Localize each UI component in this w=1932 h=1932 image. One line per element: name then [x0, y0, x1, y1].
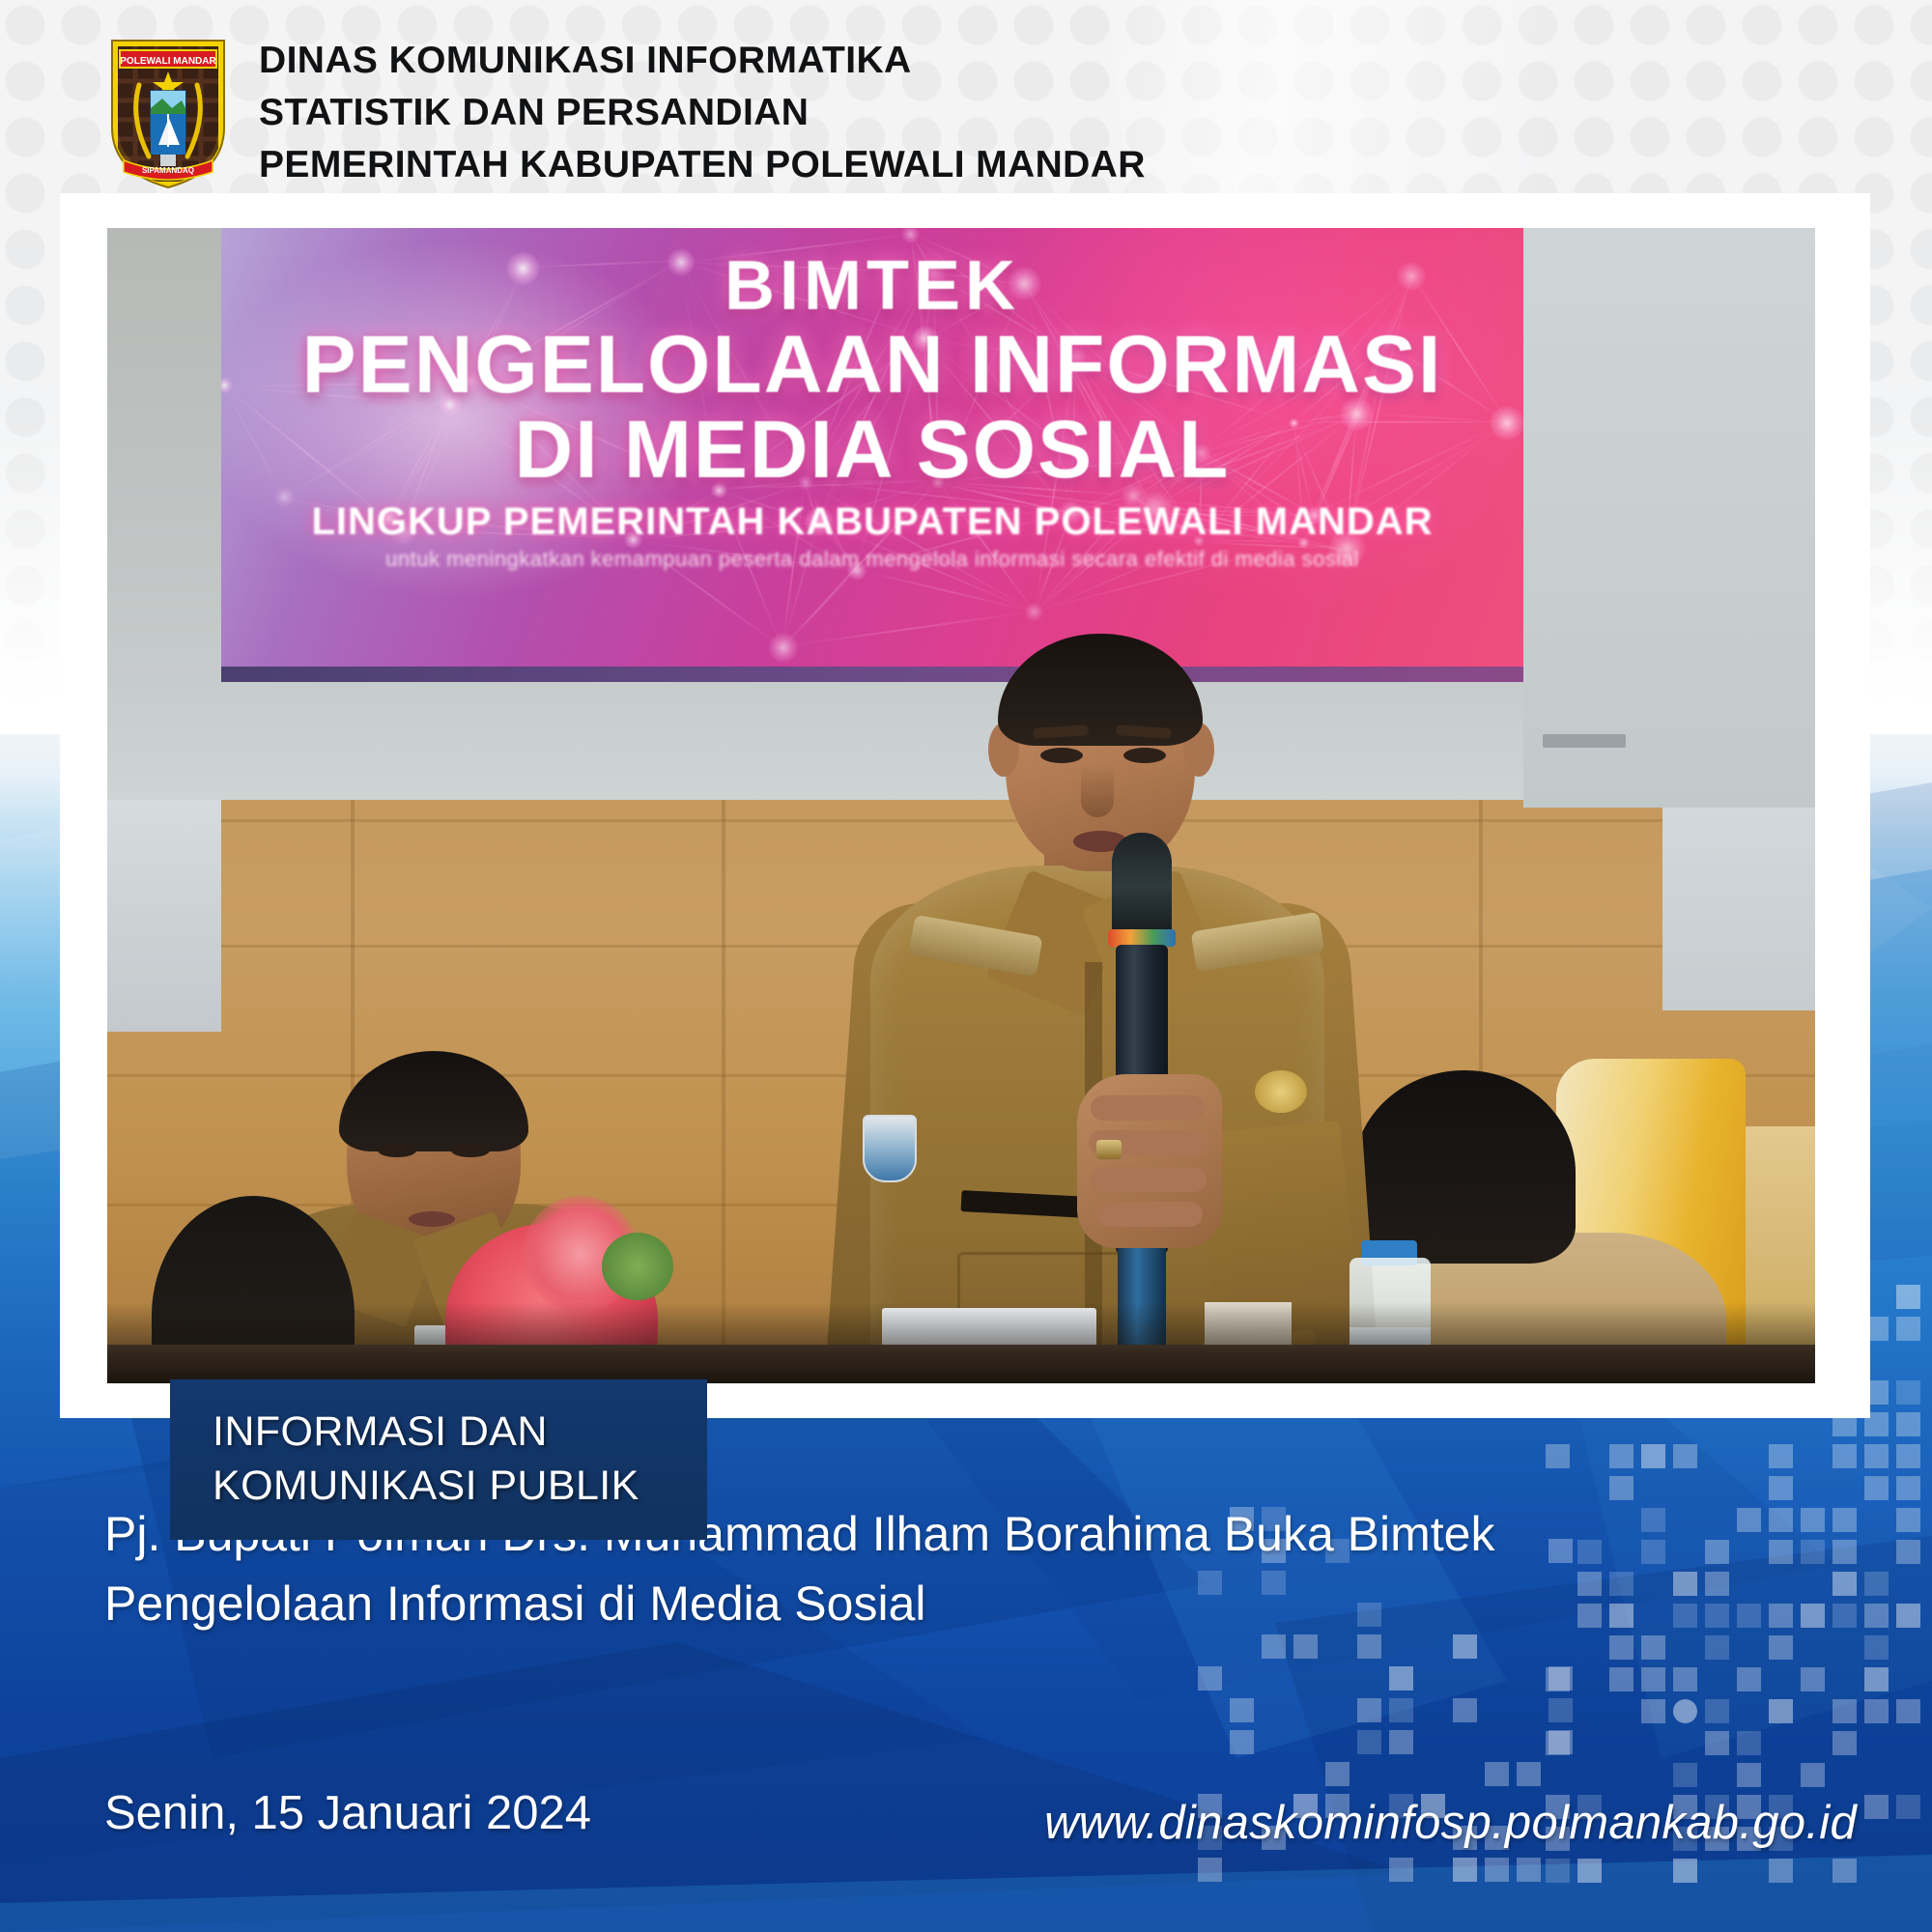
projector-screen: BIMTEK PENGELOLAAN INFORMASI DI MEDIA SO…	[221, 228, 1523, 682]
website-url[interactable]: www.dinaskominfosp.polmankab.go.id	[1044, 1795, 1857, 1851]
speaker-eye-right	[1123, 748, 1166, 763]
pixel-block	[1673, 1859, 1697, 1883]
speaker-ring	[1096, 1140, 1122, 1159]
pixel-block	[1896, 1540, 1920, 1564]
org-line-1: DINAS KOMUNIKASI INFORMATIKA	[259, 35, 1146, 87]
pixel-block	[1864, 1476, 1889, 1500]
pixel-block	[1641, 1667, 1665, 1691]
event-photo: BIMTEK PENGELOLAAN INFORMASI DI MEDIA SO…	[107, 228, 1815, 1383]
pixel-block	[1609, 1444, 1634, 1468]
pixel-block	[1453, 1858, 1477, 1882]
pixel-block	[1833, 1508, 1857, 1532]
pixel-block	[1546, 1444, 1570, 1468]
poster-canvas: POLEWALI MANDAR SIPAMANDAQ	[0, 0, 1932, 1932]
attendee-left-eye-left	[378, 1144, 416, 1157]
pixel-block	[1230, 1698, 1254, 1722]
pixel-block	[1896, 1476, 1920, 1500]
speaker-finger	[1091, 1095, 1205, 1121]
pixel-block	[1198, 1666, 1222, 1690]
speaker-eye-left	[1040, 748, 1083, 763]
pixel-block	[1485, 1858, 1509, 1882]
pixel-block	[1609, 1604, 1634, 1628]
pixel-block	[1673, 1572, 1697, 1596]
pixel-block	[1609, 1635, 1634, 1660]
pixel-block	[1548, 1666, 1573, 1690]
pixel-block	[1864, 1604, 1889, 1628]
pixel-block	[1864, 1795, 1889, 1819]
pixel-block	[1864, 1667, 1889, 1691]
polewali-mandar-emblem-icon: POLEWALI MANDAR SIPAMANDAQ	[106, 35, 230, 189]
pixel-block	[1801, 1667, 1825, 1691]
pixel-block	[1325, 1762, 1350, 1786]
pixel-block	[1641, 1699, 1665, 1723]
header-bar: POLEWALI MANDAR SIPAMANDAQ	[0, 0, 1932, 205]
pixel-block	[1230, 1730, 1254, 1754]
slide-line-1: BIMTEK	[221, 249, 1523, 323]
pixel-block	[1737, 1508, 1761, 1532]
pixel-block	[1769, 1859, 1793, 1883]
pixel-block	[1801, 1763, 1825, 1787]
pixel-block	[1864, 1572, 1889, 1596]
speaker-rank-insignia	[1255, 1070, 1307, 1113]
pixel-block	[1389, 1730, 1413, 1754]
org-line-2: STATISTIK DAN PERSANDIAN	[259, 87, 1146, 139]
svg-text:SIPAMANDAQ: SIPAMANDAQ	[142, 166, 194, 175]
pixel-block	[1548, 1698, 1573, 1722]
pixel-block	[1896, 1380, 1920, 1405]
pixel-block	[1673, 1667, 1697, 1691]
slide-line-4: LINGKUP PEMERINTAH KABUPATEN POLEWALI MA…	[221, 500, 1523, 543]
pixel-block	[1896, 1317, 1920, 1341]
pixel-block	[1769, 1444, 1793, 1468]
pixel-block	[1673, 1604, 1697, 1628]
pixel-block	[1198, 1858, 1222, 1882]
pixel-block	[1641, 1540, 1665, 1564]
pixel-block	[1896, 1444, 1920, 1468]
pixel-block	[1833, 1731, 1857, 1755]
slide-line-2: PENGELOLAAN INFORMASI	[221, 323, 1523, 406]
pixel-block	[1769, 1476, 1793, 1500]
post-date: Senin, 15 Januari 2024	[104, 1785, 591, 1841]
pixel-block	[1517, 1762, 1541, 1786]
category-badge: INFORMASI DAN KOMUNIKASI PUBLIK	[170, 1379, 707, 1540]
slide-line-5: untuk meningkatkan kemampuan peserta dal…	[221, 547, 1523, 572]
pixel-block	[1673, 1763, 1697, 1787]
pixel-block	[1609, 1667, 1634, 1691]
pixel-block	[1896, 1795, 1920, 1819]
pixel-block	[1896, 1508, 1920, 1532]
attendee-left-eye-right	[451, 1144, 490, 1157]
category-badge-line-1: INFORMASI DAN	[213, 1405, 707, 1459]
wood-seam-vertical	[722, 800, 725, 1383]
pixel-block	[1833, 1572, 1857, 1596]
slide-line-3: DI MEDIA SOSIAL	[221, 406, 1523, 493]
pixel-block	[1609, 1476, 1634, 1500]
pixel-block	[1896, 1285, 1920, 1309]
pixel-block	[1737, 1667, 1761, 1691]
speaker-finger	[1091, 1167, 1207, 1192]
organization-name: DINAS KOMUNIKASI INFORMATIKA STATISTIK D…	[259, 35, 1146, 191]
pixel-block	[1833, 1859, 1857, 1883]
screen-slide-text: BIMTEK PENGELOLAAN INFORMASI DI MEDIA SO…	[221, 228, 1523, 682]
pixel-block	[1548, 1730, 1573, 1754]
photo-whiteboard	[1523, 228, 1815, 808]
pixel-block	[1357, 1730, 1381, 1754]
pixel-block	[1833, 1444, 1857, 1468]
pixel-block	[1609, 1572, 1634, 1596]
pixel-block	[1737, 1604, 1761, 1628]
pixel-block	[1801, 1540, 1825, 1564]
wood-seam	[107, 819, 1815, 822]
speaker-finger	[1096, 1202, 1203, 1227]
pixel-block	[1864, 1699, 1889, 1723]
org-line-3: PEMERINTAH KABUPATEN POLEWALI MANDAR	[259, 139, 1146, 191]
pixel-block	[1864, 1635, 1889, 1660]
pixel-block	[1769, 1635, 1793, 1660]
pixel-block	[1641, 1508, 1665, 1532]
speaker-nose	[1081, 765, 1114, 817]
photo-frame: BIMTEK PENGELOLAAN INFORMASI DI MEDIA SO…	[60, 193, 1870, 1418]
pixel-block	[1737, 1763, 1761, 1787]
pixel-block	[1769, 1540, 1793, 1564]
category-badge-line-2: KOMUNIKASI PUBLIK	[213, 1459, 707, 1513]
pixel-block	[1641, 1444, 1665, 1468]
pixel-block	[1705, 1604, 1729, 1628]
speaker-shoulder-badge	[863, 1115, 917, 1182]
pixel-block	[1389, 1698, 1413, 1722]
pixel-block	[1389, 1666, 1413, 1690]
pixel-block	[1769, 1604, 1793, 1628]
screen-bottom-edge	[221, 667, 1523, 682]
pixel-block	[1769, 1699, 1793, 1723]
photo-wall-left	[107, 800, 221, 1032]
attendee-left-mouth	[409, 1211, 455, 1227]
pixel-block	[1705, 1540, 1729, 1564]
microphone-head	[1112, 833, 1172, 939]
table-surface	[107, 1345, 1815, 1383]
pixel-block	[1737, 1731, 1761, 1755]
pixel-block	[1705, 1731, 1729, 1755]
pixel-block	[1641, 1635, 1665, 1660]
pixel-block	[1517, 1858, 1541, 1882]
pixel-block	[1769, 1508, 1793, 1532]
attendee-right-head	[1353, 1070, 1576, 1264]
pixel-block	[1673, 1444, 1697, 1468]
pixel-block	[1705, 1572, 1729, 1596]
pixel-block	[1389, 1858, 1413, 1882]
pixel-block	[1833, 1699, 1857, 1723]
pixel-block	[1896, 1699, 1920, 1723]
table-foliage	[602, 1233, 673, 1300]
pixel-block	[1705, 1699, 1729, 1723]
pixel-block	[1896, 1412, 1920, 1436]
pixel-block	[1833, 1604, 1857, 1628]
pixel-block	[1801, 1604, 1825, 1628]
svg-text:POLEWALI MANDAR: POLEWALI MANDAR	[120, 56, 216, 67]
pixel-block	[1801, 1508, 1825, 1532]
pixel-block	[1896, 1604, 1920, 1628]
pixel-block	[1485, 1762, 1509, 1786]
pixel-block	[1453, 1698, 1477, 1722]
photo-whiteboard-tray	[1543, 734, 1626, 748]
pixel-block	[1673, 1699, 1697, 1723]
pixel-block	[1705, 1635, 1729, 1660]
pixel-block	[1357, 1698, 1381, 1722]
pixel-block	[1833, 1540, 1857, 1564]
pixel-block	[1864, 1444, 1889, 1468]
